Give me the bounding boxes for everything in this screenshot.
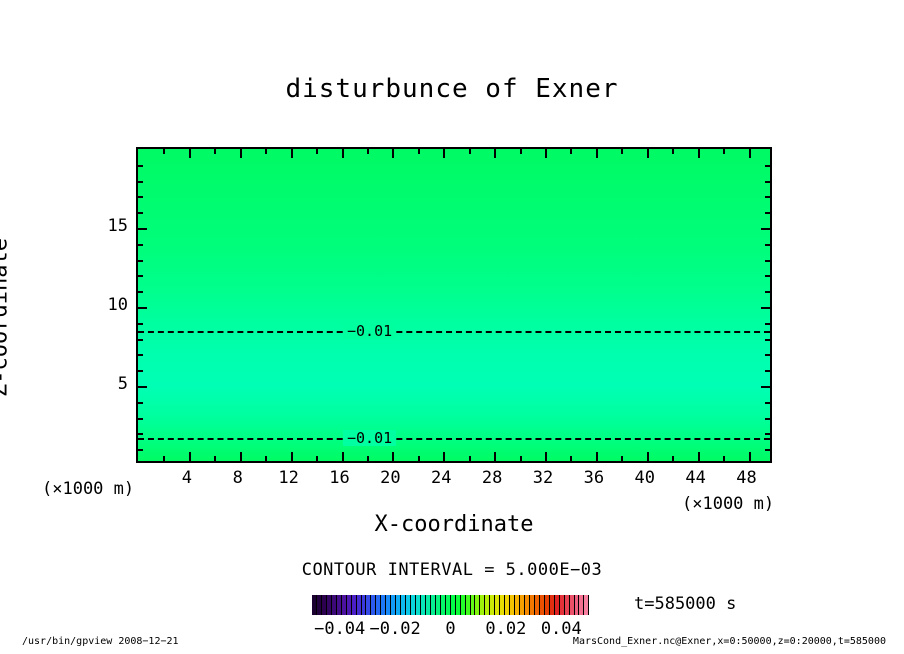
y-tick-label: 15 xyxy=(76,216,128,236)
axis-tick xyxy=(765,449,770,451)
axis-tick xyxy=(765,323,770,325)
colorbar-cell xyxy=(584,595,589,615)
x-tick-label: 48 xyxy=(736,468,756,488)
axis-tick xyxy=(647,452,649,461)
colorbar-tick-label: 0.02 xyxy=(485,619,526,639)
axis-tick xyxy=(291,149,293,158)
axis-tick xyxy=(761,228,770,230)
axis-tick xyxy=(723,456,725,461)
axis-tick xyxy=(761,307,770,309)
x-axis-unit-left: (×1000 m) xyxy=(42,479,134,499)
axis-tick xyxy=(621,456,623,461)
x-axis-tick-labels: 4812162024283236404448 xyxy=(136,468,772,492)
x-tick-label: 4 xyxy=(182,468,192,488)
axis-tick xyxy=(596,149,598,158)
axis-tick xyxy=(494,149,496,158)
axis-tick xyxy=(761,386,770,388)
axis-tick xyxy=(570,149,572,154)
axis-tick xyxy=(621,149,623,154)
axis-tick xyxy=(138,354,143,356)
x-tick-label: 8 xyxy=(233,468,243,488)
axis-tick xyxy=(765,275,770,277)
axis-tick xyxy=(138,181,143,183)
axis-tick xyxy=(765,291,770,293)
axis-tick xyxy=(240,149,242,158)
x-tick-label: 20 xyxy=(380,468,400,488)
axis-tick xyxy=(138,165,143,167)
axis-tick xyxy=(418,456,420,461)
axis-tick xyxy=(765,418,770,420)
plot-area[interactable]: −0.01−0.01 xyxy=(136,147,772,463)
axis-tick xyxy=(392,149,394,158)
axis-tick xyxy=(765,181,770,183)
axis-tick xyxy=(765,244,770,246)
x-tick-label: 24 xyxy=(431,468,451,488)
axis-tick xyxy=(138,228,147,230)
contour-line xyxy=(138,331,770,333)
y-tick-label: 10 xyxy=(76,295,128,315)
colorbar-gradient xyxy=(312,595,589,615)
axis-tick xyxy=(138,291,143,293)
axis-tick xyxy=(765,433,770,435)
axis-tick xyxy=(189,149,191,158)
x-axis-unit-right: (×1000 m) xyxy=(682,494,774,514)
y-axis-title: Z-coordinate xyxy=(0,158,13,478)
axis-tick xyxy=(545,149,547,158)
x-tick-label: 16 xyxy=(329,468,349,488)
axis-tick xyxy=(138,339,143,341)
axis-tick xyxy=(443,149,445,158)
colorbar-tick-labels: −0.04−0.0200.020.04 xyxy=(290,619,620,641)
contour-line xyxy=(138,438,770,440)
x-axis-title: X-coordinate xyxy=(136,512,772,537)
axis-tick xyxy=(240,452,242,461)
colorbar-tick-label: 0 xyxy=(445,619,455,639)
axis-tick xyxy=(647,149,649,158)
axis-tick xyxy=(163,456,165,461)
axis-tick xyxy=(342,452,344,461)
axis-tick xyxy=(138,260,143,262)
axis-tick xyxy=(138,433,143,435)
axis-tick xyxy=(765,212,770,214)
axis-tick xyxy=(765,196,770,198)
x-tick-label: 28 xyxy=(482,468,502,488)
axis-tick xyxy=(138,244,143,246)
axis-tick xyxy=(138,307,147,309)
axis-tick xyxy=(520,456,522,461)
x-tick-label: 32 xyxy=(533,468,553,488)
axis-tick xyxy=(138,275,143,277)
axis-tick xyxy=(698,452,700,461)
axis-tick xyxy=(138,449,143,451)
contour-interval-label: CONTOUR INTERVAL = 5.000E−03 xyxy=(0,560,904,580)
axis-tick xyxy=(765,260,770,262)
axis-tick xyxy=(163,149,165,154)
axis-tick xyxy=(494,452,496,461)
axis-tick xyxy=(214,456,216,461)
axis-tick xyxy=(265,456,267,461)
axis-tick xyxy=(469,456,471,461)
axis-tick xyxy=(138,212,143,214)
axis-tick xyxy=(265,149,267,154)
axis-tick xyxy=(520,149,522,154)
axis-tick xyxy=(545,452,547,461)
axis-tick xyxy=(138,418,143,420)
x-tick-label: 40 xyxy=(635,468,655,488)
axis-tick xyxy=(418,149,420,154)
axis-tick xyxy=(367,456,369,461)
axis-tick xyxy=(765,339,770,341)
x-tick-label: 36 xyxy=(584,468,604,488)
axis-tick xyxy=(596,452,598,461)
axis-tick xyxy=(698,149,700,158)
axis-tick xyxy=(392,452,394,461)
axis-tick xyxy=(316,456,318,461)
footer-dataset-right: MarsCond_Exner.nc@Exner,x=0:50000,z=0:20… xyxy=(573,636,886,647)
colorbar-tick-label: −0.02 xyxy=(370,619,421,639)
contour-fill-field xyxy=(138,149,770,461)
contour-label: −0.01 xyxy=(343,430,396,446)
axis-tick xyxy=(138,196,143,198)
axis-tick xyxy=(138,370,143,372)
axis-tick xyxy=(765,402,770,404)
axis-tick xyxy=(723,149,725,154)
axis-tick xyxy=(765,370,770,372)
axis-tick xyxy=(138,386,147,388)
y-tick-label: 5 xyxy=(76,374,128,394)
axis-tick xyxy=(765,354,770,356)
axis-tick xyxy=(469,149,471,154)
axis-tick xyxy=(189,452,191,461)
axis-tick xyxy=(367,149,369,154)
footer-command-left: /usr/bin/gpview 2008−12−21 xyxy=(22,636,179,647)
page-title: disturbunce of Exner xyxy=(0,74,904,104)
axis-tick xyxy=(570,456,572,461)
colorbar-tick-label: −0.04 xyxy=(314,619,365,639)
axis-tick xyxy=(138,402,143,404)
axis-tick xyxy=(443,452,445,461)
axis-tick xyxy=(342,149,344,158)
x-tick-label: 44 xyxy=(685,468,705,488)
axis-tick xyxy=(138,323,143,325)
x-tick-label: 12 xyxy=(278,468,298,488)
time-label: t=585000 s xyxy=(634,594,736,614)
axis-tick xyxy=(749,452,751,461)
colorbar[interactable] xyxy=(312,595,589,615)
axis-tick xyxy=(214,149,216,154)
axis-tick xyxy=(291,452,293,461)
axis-tick xyxy=(765,165,770,167)
axis-tick xyxy=(749,149,751,158)
axis-tick xyxy=(672,149,674,154)
axis-tick xyxy=(316,149,318,154)
axis-tick xyxy=(672,456,674,461)
contour-label: −0.01 xyxy=(343,323,396,339)
y-axis-tick-labels: 51015 xyxy=(76,147,128,463)
